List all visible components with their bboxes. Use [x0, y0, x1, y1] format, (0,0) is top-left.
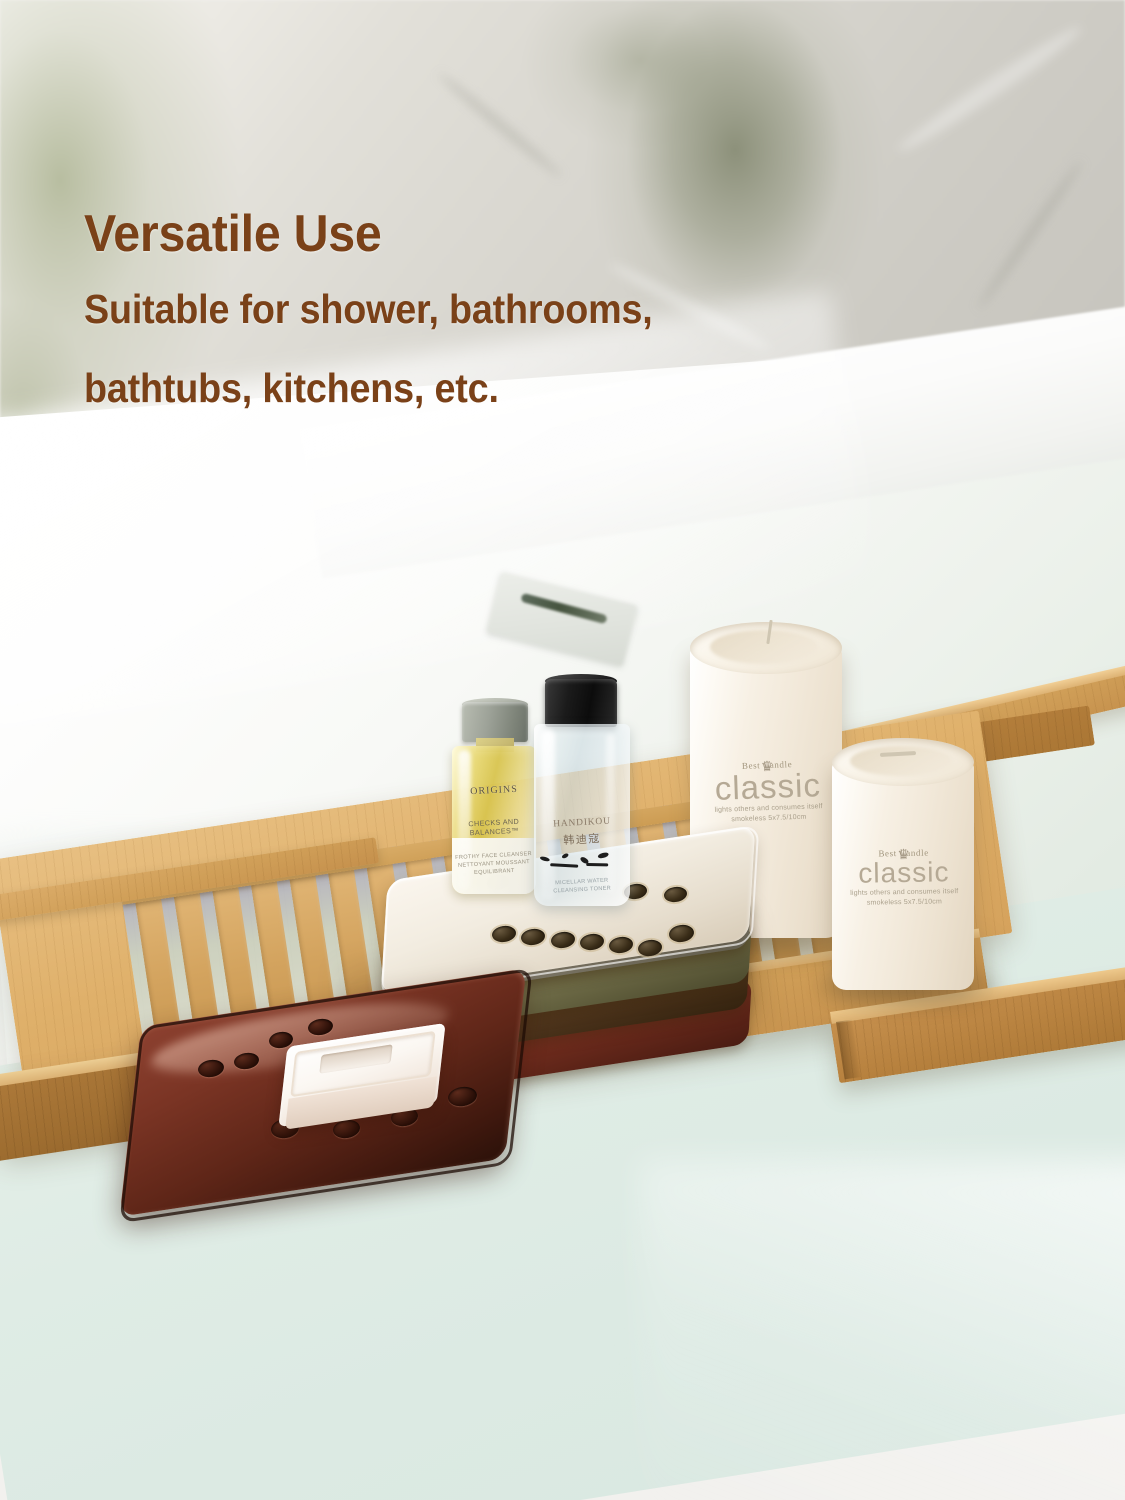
subtitle-line-2: bathtubs, kitchens, etc. — [84, 349, 912, 428]
bottle-cap — [462, 702, 528, 742]
subtitle-line-1: Suitable for shower, bathrooms, — [84, 270, 912, 349]
bottle-highlight — [606, 734, 615, 894]
candle-dimple — [710, 630, 818, 664]
candle-dimple — [850, 746, 952, 776]
bottle-description: FROTHY FACE CLEANSER NETTOYANT MOUSSANT … — [451, 850, 536, 878]
bottle-highlight — [541, 730, 555, 900]
pillar-candle-small — [832, 762, 974, 990]
product-lifestyle-image: ♛ Best Candle classic lights others and … — [0, 0, 1125, 1500]
bottle-cap — [545, 679, 617, 727]
page-title: Versatile Use — [84, 206, 921, 262]
marketing-copy: Versatile Use Suitable for shower, bathr… — [84, 206, 984, 428]
